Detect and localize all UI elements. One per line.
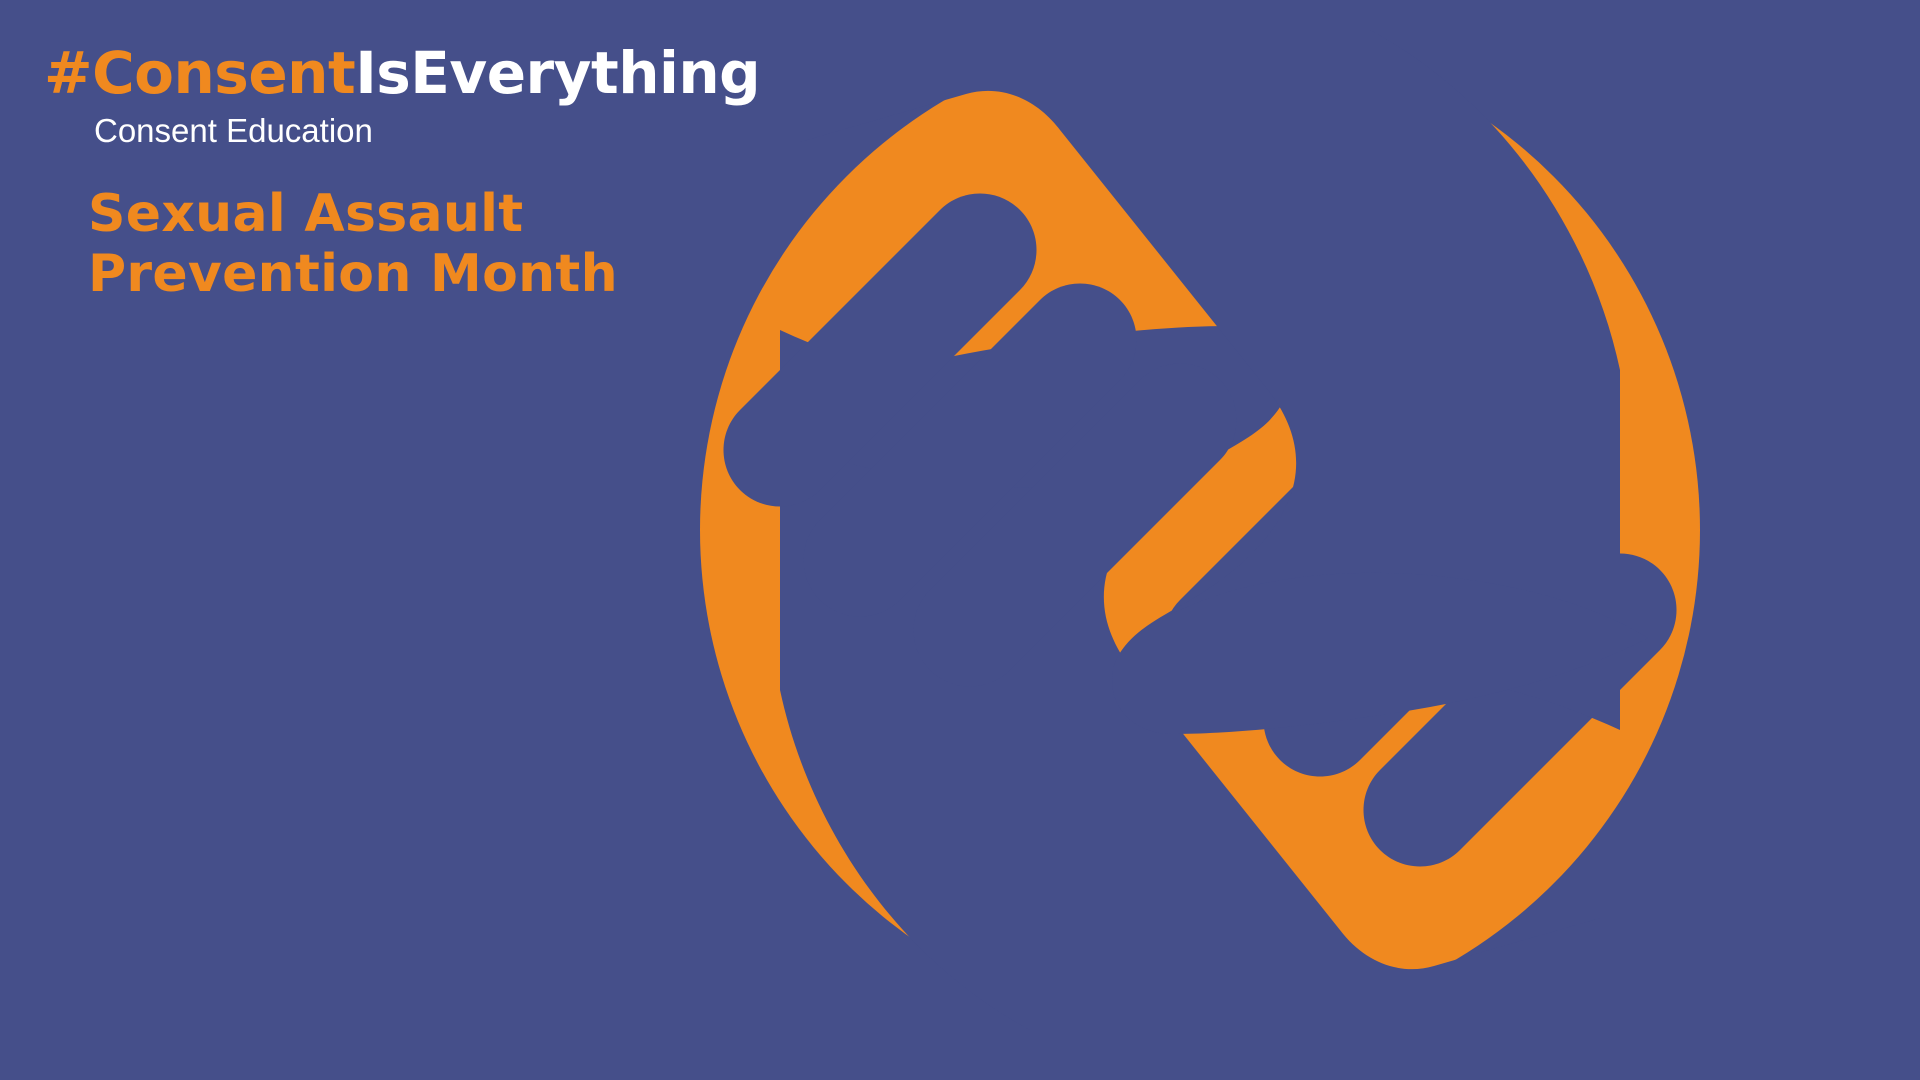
hashtag-consent-part: #Consent bbox=[44, 39, 355, 107]
text-block: #ConsentIsEverything Consent Education S… bbox=[44, 44, 864, 305]
page-title: Sexual Assault Prevention Month bbox=[88, 185, 864, 305]
promo-banner: #ConsentIsEverything Consent Education S… bbox=[0, 0, 1920, 1080]
page-title-line-1: Sexual Assault bbox=[88, 185, 864, 245]
page-title-line-2: Prevention Month bbox=[88, 245, 864, 305]
campaign-subtitle: Consent Education bbox=[94, 114, 864, 147]
campaign-hashtag: #ConsentIsEverything bbox=[44, 44, 864, 102]
hashtag-iseverything-part: IsEverything bbox=[355, 39, 760, 107]
